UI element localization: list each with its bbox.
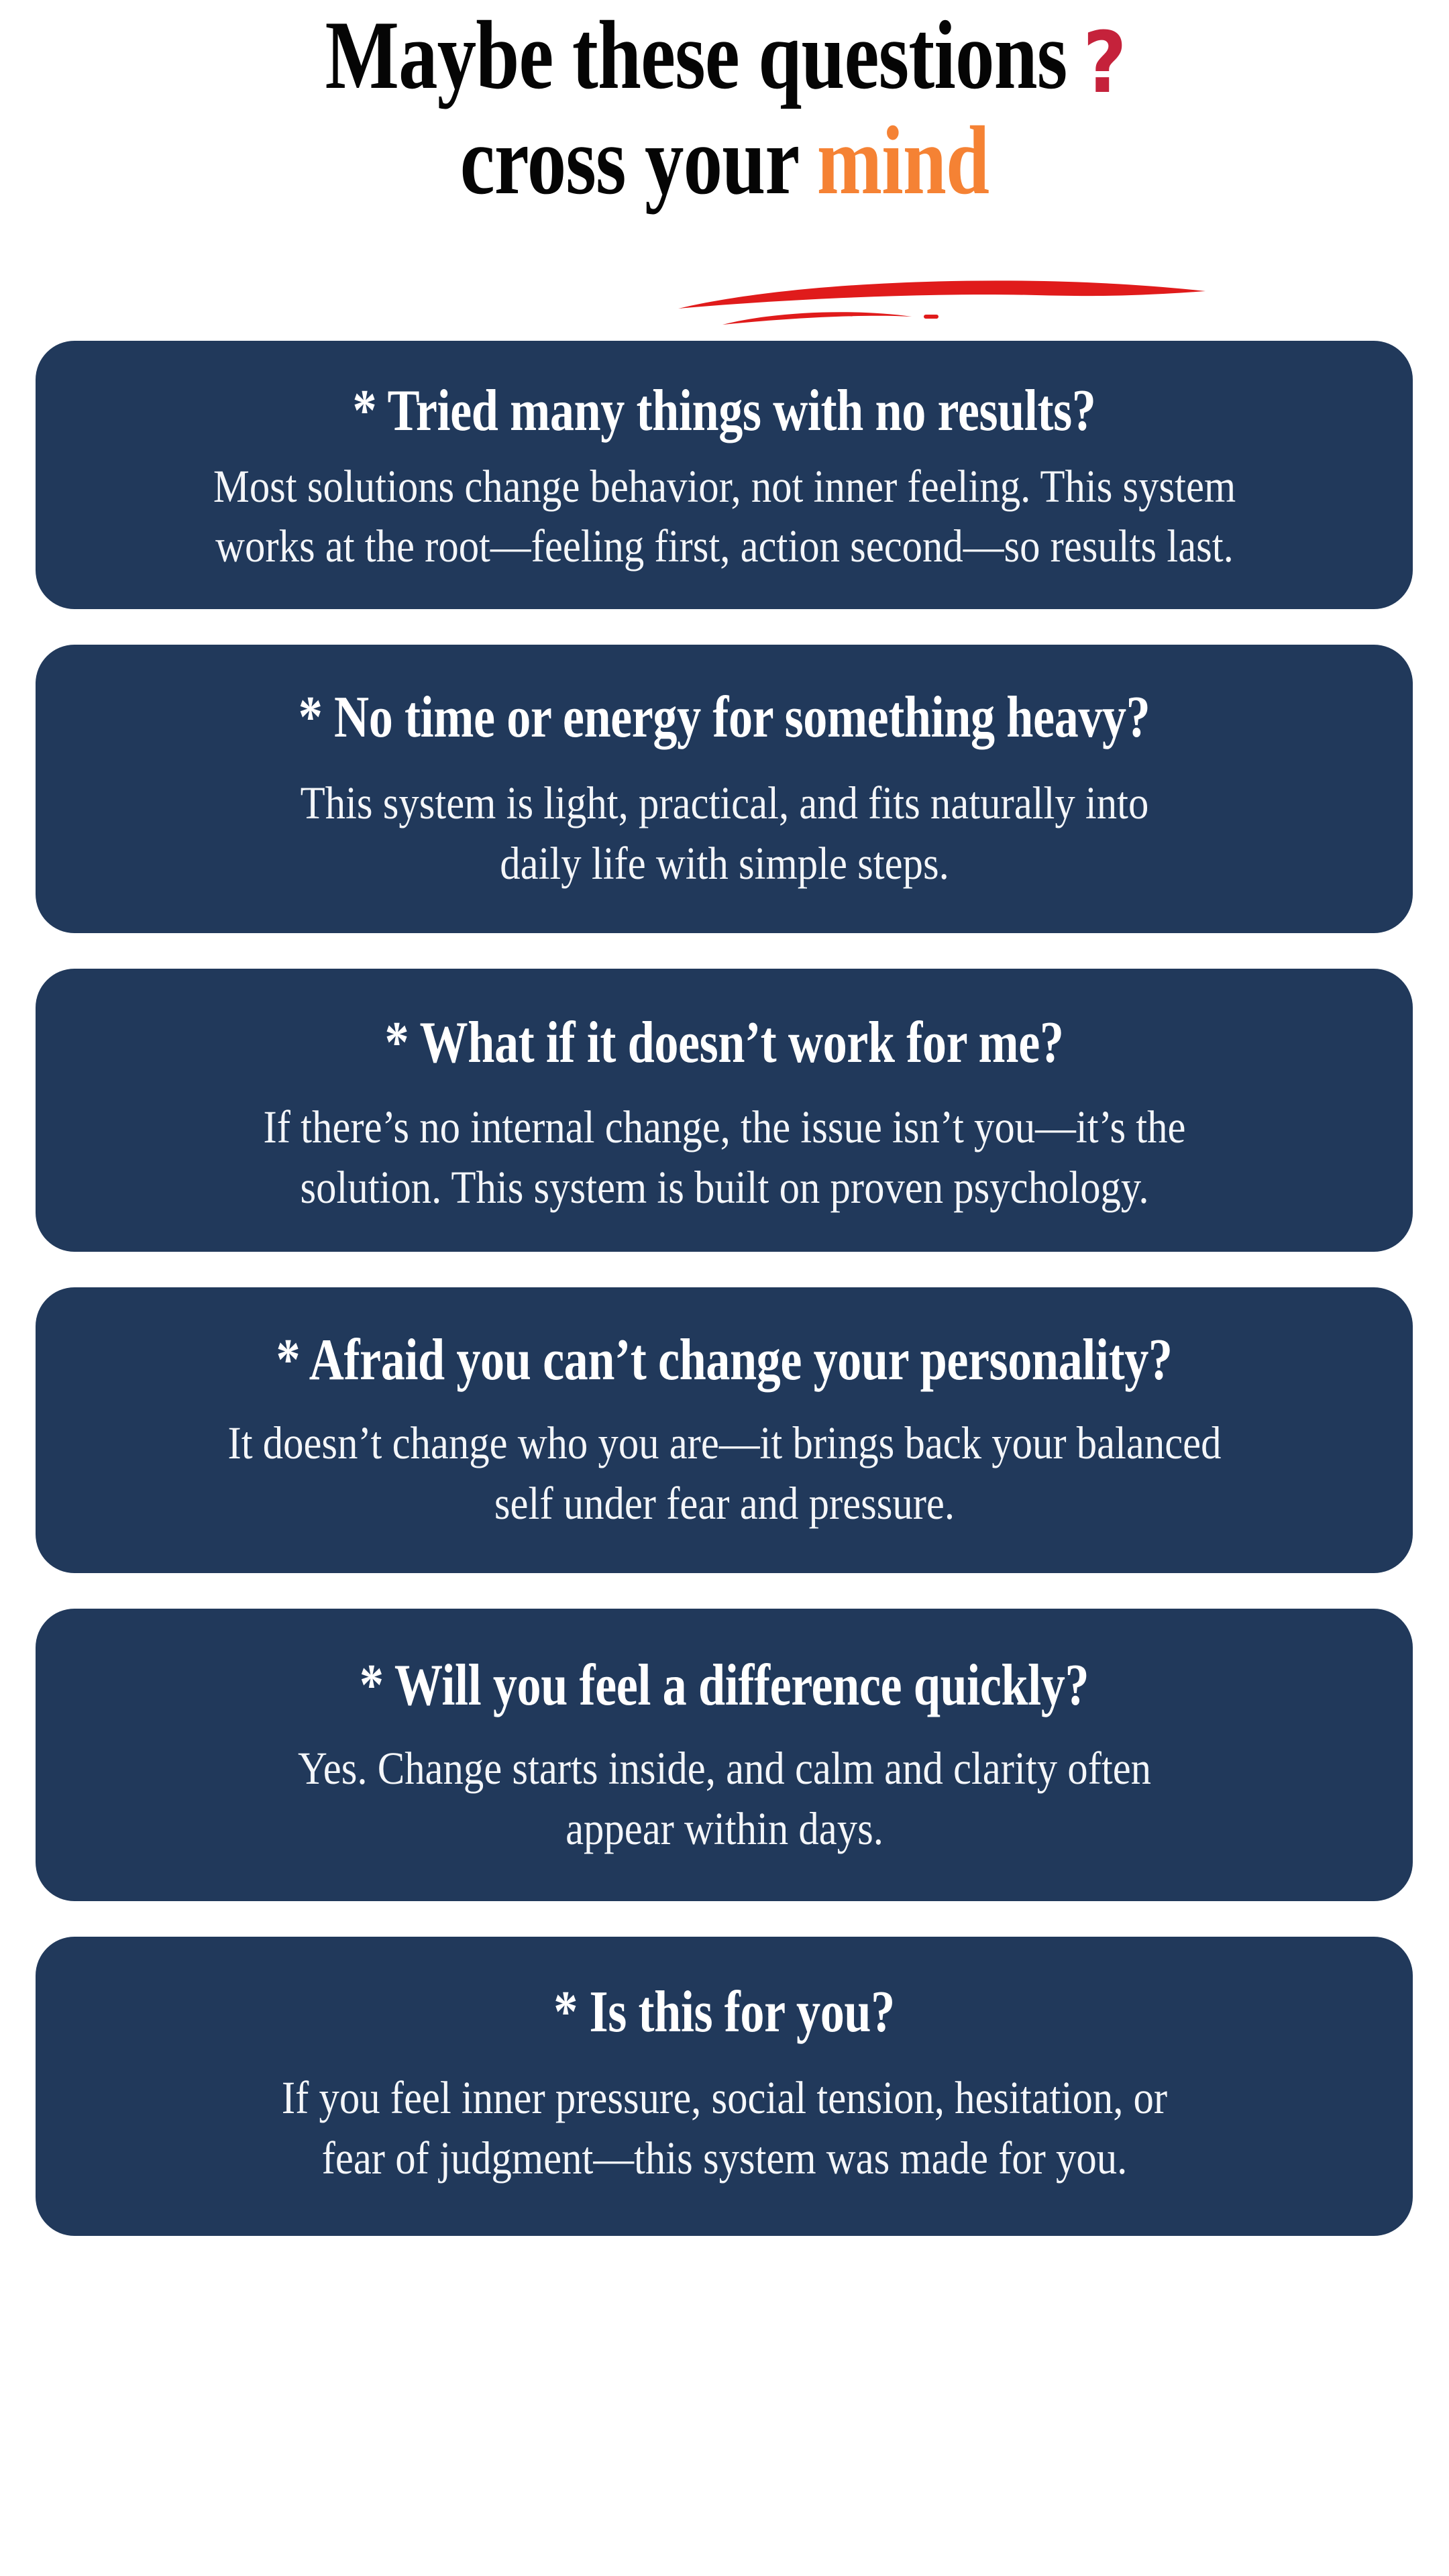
question-card-title: * What if it doesn’t work for me?: [195, 1010, 1254, 1077]
question-card[interactable]: * Is this for you? If you feel inner pre…: [36, 1937, 1413, 2236]
question-card-body: Most solutions change behavior, not inne…: [169, 457, 1279, 577]
question-card[interactable]: * Tried many things with no results? Mos…: [36, 341, 1413, 609]
question-card[interactable]: * Will you feel a difference quickly? Ye…: [36, 1609, 1413, 1901]
question-card-title: * Tried many things with no results?: [195, 378, 1254, 445]
red-swoosh-underline-icon: [661, 267, 1224, 331]
question-card-body: If there’s no internal change, the issue…: [211, 1097, 1238, 1218]
question-card[interactable]: * No time or energy for something heavy?…: [36, 645, 1413, 933]
headline-highlight-mind: mind: [817, 106, 989, 215]
question-card-body: Yes. Change starts inside, and calm and …: [234, 1739, 1214, 1859]
headline-line-2: cross your mind: [145, 111, 1304, 211]
header: Maybe these questions? cross your mind: [0, 0, 1449, 211]
headline-line-1-text: Maybe these questions: [325, 1, 1067, 109]
headline-line-1: Maybe these questions?: [145, 5, 1304, 105]
question-card-title: * Afraid you can’t change your personali…: [195, 1328, 1254, 1394]
headline-line-2-prefix: cross your: [460, 106, 817, 215]
question-card-body: This system is light, practical, and fit…: [270, 773, 1179, 894]
question-card-list: * Tried many things with no results? Mos…: [36, 341, 1413, 2271]
question-mark-icon: ?: [1083, 21, 1126, 105]
question-card-body: If you feel inner pressure, social tensi…: [246, 2068, 1203, 2188]
question-card[interactable]: * Afraid you can’t change your personali…: [36, 1287, 1413, 1573]
question-card[interactable]: * What if it doesn’t work for me? If the…: [36, 969, 1413, 1252]
poster-page: Maybe these questions? cross your mind *…: [0, 0, 1449, 2576]
question-card-title: * Will you feel a difference quickly?: [195, 1653, 1254, 1719]
question-card-title: * Is this for you?: [195, 1980, 1254, 2046]
question-card-title: * No time or energy for something heavy?: [195, 685, 1254, 751]
question-card-body: It doesn’t change who you are—it brings …: [211, 1413, 1238, 1534]
